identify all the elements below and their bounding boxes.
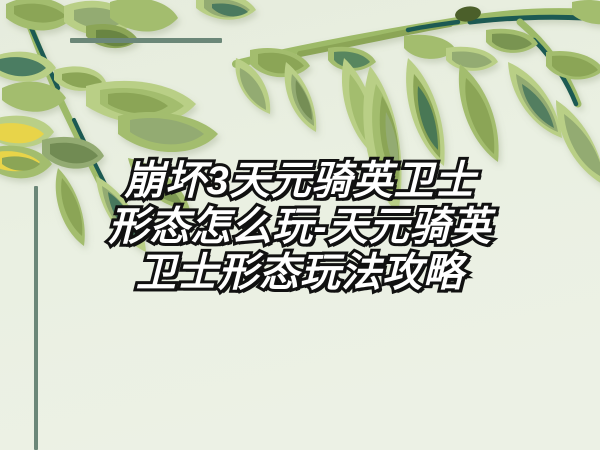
horizontal-rule: [70, 38, 222, 43]
page-title: 崩坏3天元骑英卫士 形态怎么玩-天元骑英 卫士形态玩法攻略: [0, 158, 600, 296]
title-line-3: 卫士形态玩法攻略: [0, 250, 600, 296]
poster-canvas: 崩坏3天元骑英卫士 形态怎么玩-天元骑英 卫士形态玩法攻略: [0, 0, 600, 450]
title-line-2: 形态怎么玩-天元骑英: [0, 204, 600, 250]
title-line-1: 崩坏3天元骑英卫士: [0, 158, 600, 204]
foliage-top-edge: [196, 0, 256, 20]
